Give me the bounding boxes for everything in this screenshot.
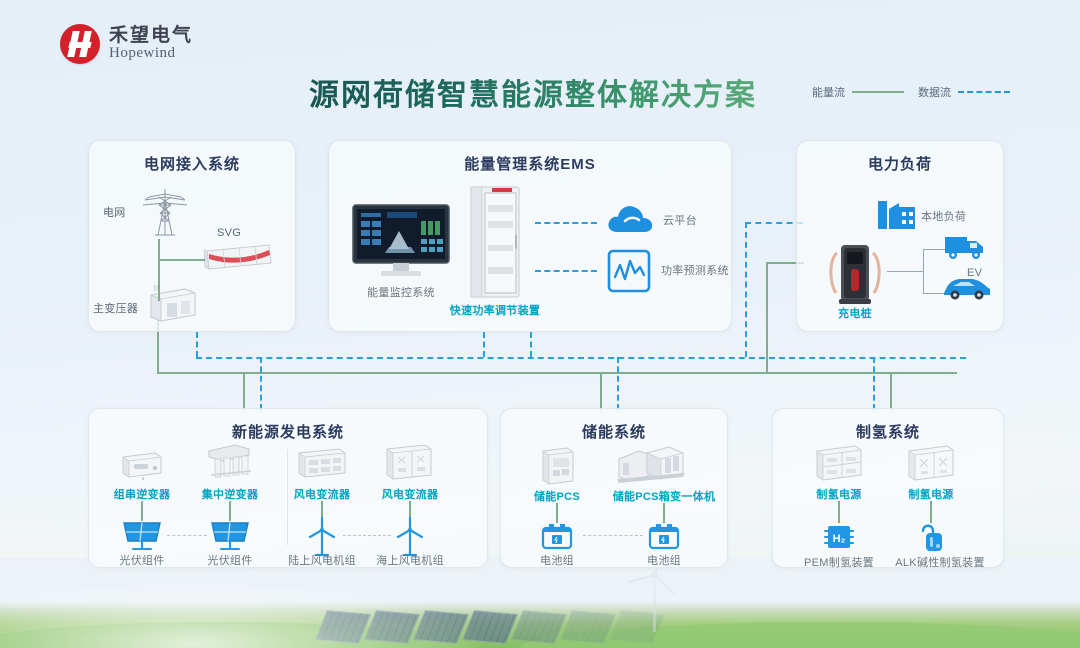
node-label-energy-monitoring: 能量监控系统 bbox=[367, 287, 435, 299]
node-label-ev: EV bbox=[967, 267, 982, 279]
panel-hydrogen[interactable]: 制氢系统 制氢电源 H₂ PEM制氢装置 bbox=[772, 408, 1004, 568]
wire-bus-to-hydrogen bbox=[890, 372, 892, 410]
node-pv-module-2[interactable]: 光伏组件 bbox=[195, 551, 265, 569]
node-label-onshore-turbine: 陆上风电机组 bbox=[288, 555, 356, 567]
legend-line-solid-icon bbox=[852, 91, 904, 93]
data-wire-cabinet-to-cloud bbox=[535, 222, 597, 224]
node-label-cloud-platform: 云平台 bbox=[663, 215, 697, 227]
data-wire-to-newenergy bbox=[260, 357, 262, 410]
data-wire-to-load-panel bbox=[745, 222, 803, 224]
hydrogen-power-cabinet2-icon bbox=[903, 441, 959, 485]
node-label-svg: SVG bbox=[217, 227, 241, 239]
data-wire-ems-mid bbox=[483, 332, 485, 357]
panel-title-hydrogen: 制氢系统 bbox=[773, 421, 1003, 442]
node-label-pcs: 储能PCS bbox=[534, 491, 580, 503]
legend: 能量流 数据流 bbox=[812, 84, 1010, 100]
legend-label-energy-flow: 能量流 bbox=[812, 84, 845, 100]
node-charging-pile[interactable]: 充电桩 bbox=[823, 304, 887, 322]
transformer-icon bbox=[145, 283, 201, 323]
brand-name-en: Hopewind bbox=[109, 46, 193, 62]
node-label-hydrogen-power-1: 制氢电源 bbox=[816, 489, 861, 501]
node-label-wind-converter-2: 风电变流器 bbox=[382, 489, 439, 501]
node-label-fast-power-regulator: 快速功率调节装置 bbox=[450, 305, 540, 317]
monitor-icon bbox=[351, 203, 451, 279]
battery-icon bbox=[539, 521, 575, 551]
node-pv-module-1[interactable]: 光伏组件 bbox=[107, 551, 177, 569]
data-wire-to-storage bbox=[617, 357, 619, 410]
pcs-cabinet-icon bbox=[537, 445, 577, 487]
legend-label-data-flow: 数据流 bbox=[918, 84, 951, 100]
wire-bus-to-load bbox=[766, 262, 768, 372]
node-battery-2[interactable]: 电池组 bbox=[634, 551, 694, 569]
node-local-load[interactable]: 本地负荷 bbox=[921, 207, 966, 225]
node-label-offshore-turbine: 海上风电机组 bbox=[376, 555, 444, 567]
node-label-charging-pile: 充电桩 bbox=[838, 308, 872, 320]
wind-converter-cabinet-icon bbox=[383, 441, 435, 483]
brand-name-cn: 禾望电气 bbox=[109, 26, 193, 46]
panel-title-ems: 能量管理系统EMS bbox=[329, 153, 731, 174]
node-battery-1[interactable]: 电池组 bbox=[527, 551, 587, 569]
wire-node-to-transformer bbox=[158, 259, 160, 301]
wire-bus-to-newenergy bbox=[243, 372, 245, 410]
data-wire-ems-bottom-stub bbox=[530, 332, 532, 357]
panel-title-grid-access: 电网接入系统 bbox=[89, 153, 295, 174]
node-power-forecast[interactable]: 功率预测系统 bbox=[661, 261, 729, 279]
panel-ems[interactable]: 能量管理系统EMS bbox=[328, 140, 732, 332]
energy-bus-horizontal bbox=[157, 372, 957, 374]
legend-item-energy-flow: 能量流 bbox=[812, 84, 904, 100]
transmission-tower-icon bbox=[137, 183, 193, 239]
node-label-central-inverter: 集中逆变器 bbox=[202, 489, 259, 501]
node-label-grid: 电网 bbox=[103, 207, 126, 219]
hopewind-logo-icon bbox=[60, 24, 100, 64]
node-energy-monitoring[interactable]: 能量监控系统 bbox=[346, 283, 456, 301]
pcs-skid-icon bbox=[613, 443, 689, 487]
control-cabinet-icon bbox=[465, 183, 525, 301]
panel-electric-load[interactable]: 电力负荷 本地负荷 充电桩 bbox=[796, 140, 1004, 332]
node-label-pem-device: PEM制氢装置 bbox=[804, 557, 874, 569]
battery-icon-2 bbox=[646, 521, 682, 551]
dashed-link-pv1-pv2 bbox=[167, 535, 207, 536]
wire-pile-to-ev-h bbox=[887, 271, 923, 272]
node-label-string-inverter: 组串逆变器 bbox=[114, 489, 171, 501]
wire-string-inverter-to-pv bbox=[141, 501, 143, 521]
node-label-wind-converter-1: 风电变流器 bbox=[294, 489, 351, 501]
node-pem-device[interactable]: PEM制氢装置 bbox=[793, 553, 885, 571]
node-cloud-platform[interactable]: 云平台 bbox=[663, 211, 697, 229]
node-label-power-forecast: 功率预测系统 bbox=[661, 265, 729, 277]
svg-text:H₂: H₂ bbox=[833, 533, 846, 545]
node-grid[interactable]: 电网 bbox=[103, 203, 126, 221]
hydrogen-power-cabinet-icon bbox=[811, 441, 867, 485]
cloud-icon bbox=[605, 199, 655, 239]
node-label-pcs-skid: 储能PCS箱变一体机 bbox=[613, 491, 716, 503]
charging-pile-icon bbox=[827, 239, 883, 305]
data-wire-ems-left bbox=[196, 332, 198, 357]
truck-icon bbox=[943, 231, 987, 261]
node-main-transformer[interactable]: 主变压器 bbox=[93, 299, 138, 317]
panel-new-energy[interactable]: 新能源发电系统 组串逆变器 光伏组件 bbox=[88, 408, 488, 568]
panel-storage[interactable]: 储能系统 储能PCS 电池组 bbox=[500, 408, 728, 568]
svg-cabinet-icon bbox=[203, 241, 275, 273]
panel-grid-access[interactable]: 电网接入系统 电网 SVG bbox=[88, 140, 296, 332]
background-photo-band bbox=[0, 558, 1080, 648]
factory-icon bbox=[875, 193, 917, 231]
dashed-link-battery1-battery2 bbox=[583, 535, 643, 536]
node-onshore-turbine[interactable]: 陆上风电机组 bbox=[277, 551, 367, 569]
node-label-pv-module-2: 光伏组件 bbox=[207, 555, 252, 567]
panel-title-new-energy: 新能源发电系统 bbox=[89, 421, 487, 442]
panel-title-electric-load: 电力负荷 bbox=[797, 153, 1003, 174]
forecast-chart-icon bbox=[607, 249, 651, 293]
data-wire-ems-right bbox=[745, 222, 747, 357]
wire-pcs-to-battery bbox=[556, 503, 558, 523]
wire-bus-to-storage bbox=[600, 372, 602, 410]
node-label-pv-module-1: 光伏组件 bbox=[119, 555, 164, 567]
pv-module-icon-2 bbox=[208, 519, 252, 553]
node-label-local-load: 本地负荷 bbox=[921, 211, 966, 223]
node-fast-power-regulator[interactable]: 快速功率调节装置 bbox=[437, 301, 553, 319]
wire-hpower1-to-pem bbox=[838, 501, 840, 523]
wire-central-inverter-to-pv bbox=[229, 501, 231, 521]
node-label-battery-2: 电池组 bbox=[647, 555, 681, 567]
node-label-alk-device: ALK碱性制氢装置 bbox=[895, 557, 985, 569]
legend-line-dashed-icon bbox=[958, 91, 1010, 93]
page-title: 源网荷储智慧能源整体解决方案 bbox=[268, 70, 798, 114]
pv-module-icon bbox=[120, 519, 164, 553]
node-ev[interactable]: EV bbox=[967, 263, 982, 281]
wire-node-to-svg bbox=[158, 259, 205, 261]
node-label-hydrogen-power-2: 制氢电源 bbox=[908, 489, 953, 501]
node-label-battery-1: 电池组 bbox=[540, 555, 574, 567]
data-bus-horizontal bbox=[196, 357, 966, 359]
panel-title-storage: 储能系统 bbox=[501, 421, 727, 442]
wire-ev-truck bbox=[923, 249, 945, 250]
alk-icon bbox=[915, 519, 947, 553]
data-wire-cabinet-to-forecast bbox=[535, 270, 597, 272]
data-wire-to-hydrogen bbox=[873, 357, 875, 410]
string-inverter-icon bbox=[119, 447, 165, 481]
legend-item-data-flow: 数据流 bbox=[918, 84, 1010, 100]
wire-pcsskid-to-battery bbox=[663, 503, 665, 523]
node-offshore-turbine[interactable]: 海上风电机组 bbox=[365, 551, 455, 569]
node-svg-device[interactable]: SVG bbox=[217, 223, 241, 241]
node-label-main-transformer: 主变压器 bbox=[93, 303, 138, 315]
dashed-link-turbine1-turbine2 bbox=[343, 535, 391, 536]
central-inverter-icon bbox=[205, 441, 253, 481]
node-alk-device[interactable]: ALK碱性制氢装置 bbox=[885, 553, 995, 571]
brand-logo: 禾望电气 Hopewind bbox=[60, 24, 193, 64]
pem-icon: H₂ bbox=[821, 521, 857, 553]
wire-ev-split-v bbox=[923, 249, 924, 293]
wind-converter-icon bbox=[295, 445, 349, 481]
